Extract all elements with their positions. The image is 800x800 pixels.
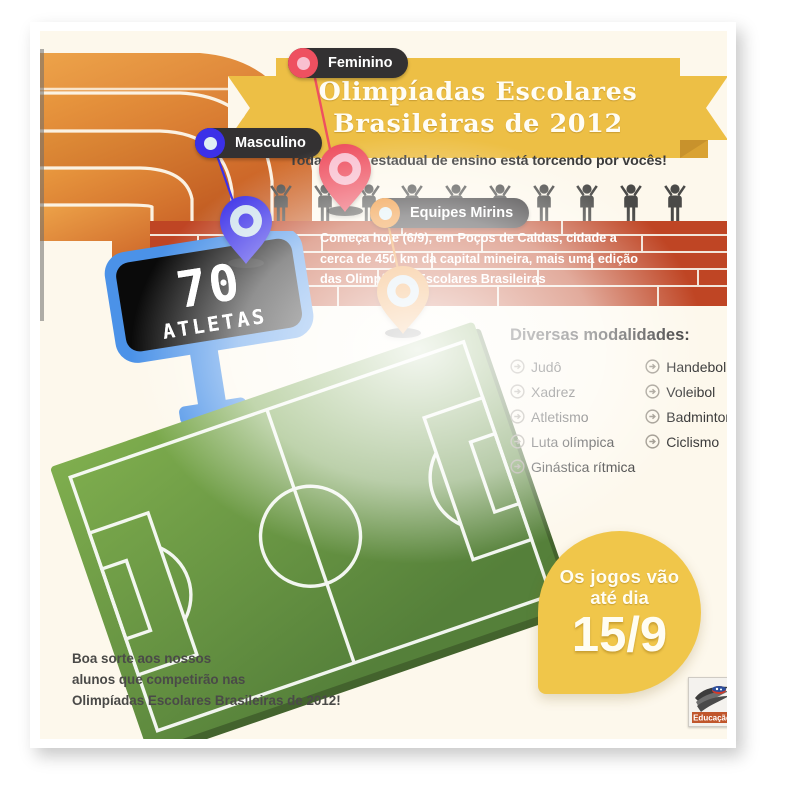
- circle-arrow-right-icon: [510, 409, 525, 424]
- modality-label: Atletismo: [531, 409, 589, 425]
- circle-arrow-right-icon: [510, 359, 525, 374]
- modality-label: Handebol: [666, 359, 726, 375]
- pin-label-text: Masculino: [235, 135, 306, 151]
- modality-item[interactable]: Ginástica rítmica: [510, 454, 635, 479]
- modality-item[interactable]: Ciclismo: [645, 429, 727, 454]
- map-pin-masculino-icon[interactable]: [217, 194, 275, 268]
- circle-arrow-right-icon: [645, 434, 660, 449]
- pin-dot-masculino: [195, 128, 225, 158]
- modalities-column-right: Handebol Voleibol Badminton Ciclismo: [645, 354, 727, 479]
- modality-label: Badminton: [666, 409, 727, 425]
- pin-label-masculino[interactable]: Masculino: [195, 128, 322, 158]
- poster-canvas: Olimpíadas Escolares Brasileiras de 2012…: [40, 31, 727, 739]
- pin-dot-equipes-mirins: [370, 198, 400, 228]
- circle-arrow-right-icon: [510, 384, 525, 399]
- closing-line-1: Boa sorte aos nossos: [72, 648, 341, 669]
- title-line-2: Brasileiras de 2012: [333, 108, 623, 140]
- closing-line-3: Olimpíadas Escolares Brasileiras de 2012…: [72, 690, 341, 711]
- pin-label-text: Equipes Mirins: [410, 205, 513, 221]
- pin-label-equipes-mirins[interactable]: Equipes Mirins: [370, 198, 529, 228]
- modalities-column-left: Judô Xadrez Atletismo Luta olímpica Giná…: [510, 354, 635, 479]
- modality-item[interactable]: Atletismo: [510, 404, 635, 429]
- end-date-line-1: Os jogos vão: [560, 566, 680, 588]
- circle-arrow-right-icon: [645, 384, 660, 399]
- modality-label: Voleibol: [666, 384, 715, 400]
- circle-arrow-right-icon: [645, 359, 660, 374]
- modality-item[interactable]: Badminton: [645, 404, 727, 429]
- closing-line-2: alunos que competirão nas: [72, 669, 341, 690]
- end-date-line-2: até dia: [590, 587, 649, 609]
- circle-arrow-right-icon: [645, 409, 660, 424]
- end-date-badge: Os jogos vão até dia 15/9: [538, 531, 701, 694]
- sao-paulo-educacao-logo: Educação: [688, 677, 727, 727]
- modality-item[interactable]: Xadrez: [510, 379, 635, 404]
- pin-dot-feminino: [288, 48, 318, 78]
- cheering-person-icon: [574, 182, 600, 226]
- modality-label: Luta olímpica: [531, 434, 614, 450]
- modality-item[interactable]: Judô: [510, 354, 635, 379]
- infographic-poster: Olimpíadas Escolares Brasileiras de 2012…: [0, 0, 800, 800]
- closing-message: Boa sorte aos nossos alunos que competir…: [72, 648, 341, 712]
- circle-arrow-right-icon: [510, 434, 525, 449]
- modalities-title: Diversas modalidades:: [510, 326, 727, 345]
- pin-label-text: Feminino: [328, 55, 392, 71]
- title-line-1: Olimpíadas Escolares: [319, 76, 638, 108]
- modality-label: Ginástica rítmica: [531, 459, 635, 475]
- end-date-value: 15/9: [572, 611, 667, 660]
- modality-label: Ciclismo: [666, 434, 719, 450]
- svg-text:Educação: Educação: [693, 713, 727, 722]
- circle-arrow-right-icon: [510, 459, 525, 474]
- cheering-person-icon: [531, 182, 557, 226]
- modality-label: Judô: [531, 359, 561, 375]
- modality-item[interactable]: Luta olímpica: [510, 429, 635, 454]
- modality-label: Xadrez: [531, 384, 575, 400]
- map-pin-equipes-mirins-icon[interactable]: [374, 264, 432, 338]
- map-pin-feminino-icon[interactable]: [316, 142, 374, 216]
- cheering-person-icon: [618, 182, 644, 226]
- modality-item[interactable]: Voleibol: [645, 379, 727, 404]
- modality-item[interactable]: Handebol: [645, 354, 727, 379]
- pin-label-feminino[interactable]: Feminino: [288, 48, 408, 78]
- cheering-person-icon: [662, 182, 688, 226]
- modalities-section: Diversas modalidades: Judô Xadrez Atleti…: [510, 326, 727, 479]
